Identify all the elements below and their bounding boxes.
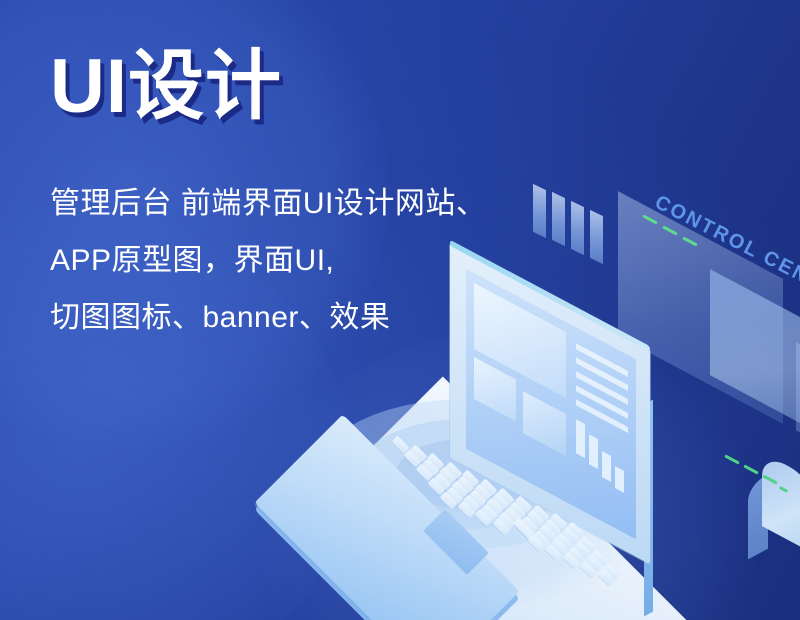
- ui-design-banner: CONTROL CENTER: [0, 0, 800, 620]
- decor-bar: [552, 192, 565, 246]
- isometric-bars-decor: [533, 186, 653, 266]
- plate-front: [796, 342, 800, 471]
- laptop-keyboard: [390, 426, 640, 566]
- green-dash-line-top: [642, 216, 712, 262]
- dash-segment: [662, 225, 678, 235]
- subcopy-block: 管理后台 前端界面UI设计网站、 APP原型图，界面UI, 切图图标、banne…: [50, 175, 486, 346]
- decor-bar: [571, 201, 584, 255]
- dash-segment: [682, 236, 698, 246]
- dash-segment: [779, 486, 788, 493]
- subcopy-line-2: APP原型图，界面UI,: [50, 232, 486, 289]
- dash-segment: [642, 214, 658, 224]
- subcopy-line-3: 切图图标、banner、效果: [50, 289, 486, 346]
- decor-bar: [590, 210, 603, 264]
- decor-bar: [533, 184, 546, 238]
- subcopy-line-1: 管理后台 前端界面UI设计网站、: [50, 175, 486, 232]
- page-title: UI设计: [50, 44, 282, 130]
